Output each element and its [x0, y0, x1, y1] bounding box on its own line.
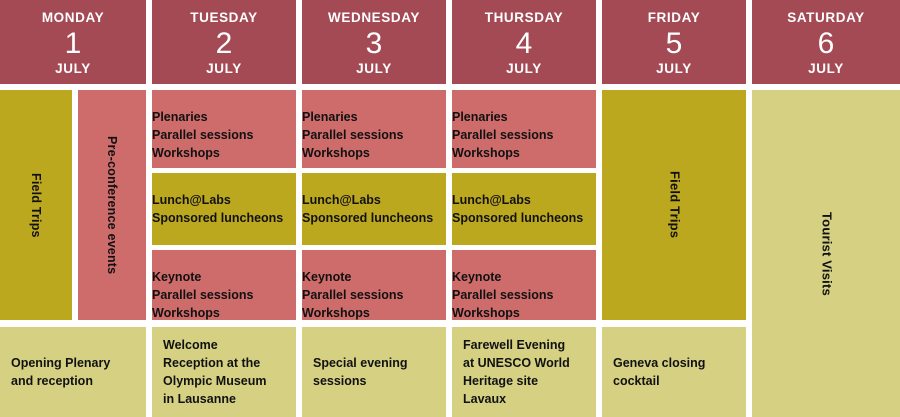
day-header-month: JULY	[506, 62, 542, 76]
event-line: sessions	[313, 372, 407, 390]
event-block-tuesday-evening[interactable]: Welcome Reception at the Olympic Museum …	[152, 327, 296, 417]
day-header-thursday[interactable]: THURSDAY 4 JULY	[452, 0, 596, 84]
event-line: Plenaries	[302, 108, 446, 126]
event-block-tourist-visits-saturday[interactable]: Tourist Visits	[752, 90, 900, 417]
event-line: Parallel sessions	[302, 286, 446, 304]
event-line: Parallel sessions	[152, 286, 296, 304]
event-block-wednesday-evening[interactable]: Special evening sessions	[302, 327, 446, 417]
event-line: Parallel sessions	[302, 126, 446, 144]
event-block-tuesday-afternoon[interactable]: Keynote Parallel sessions Workshops	[152, 250, 296, 320]
day-header-weekday: SATURDAY	[787, 11, 865, 25]
event-line: at UNESCO World	[463, 354, 570, 372]
event-block-monday-evening[interactable]: Opening Plenary and reception	[0, 327, 146, 417]
event-block-thursday-afternoon[interactable]: Keynote Parallel sessions Workshops	[452, 250, 596, 320]
event-line: Farewell Evening	[463, 336, 570, 354]
conference-schedule-calendar: MONDAY 1 JULY TUESDAY 2 JULY WEDNESDAY 3…	[0, 0, 900, 417]
day-header-month: JULY	[356, 62, 392, 76]
event-line: Sponsored luncheons	[152, 209, 296, 227]
event-block-field-trips-monday[interactable]: Field Trips	[0, 90, 72, 320]
event-block-label: Field Trips	[27, 173, 45, 238]
day-header-wednesday[interactable]: WEDNESDAY 3 JULY	[302, 0, 446, 84]
event-block-pre-conference-events[interactable]: Pre-conference events	[78, 90, 146, 320]
event-line: Parallel sessions	[452, 126, 596, 144]
event-block-label: Pre-conference events	[103, 136, 121, 274]
event-line: Workshops	[452, 304, 596, 320]
event-line: in Lausanne	[163, 390, 267, 408]
day-header-month: JULY	[656, 62, 692, 76]
event-line: Sponsored luncheons	[452, 209, 596, 227]
event-line: Keynote	[452, 268, 596, 286]
event-block-text: Welcome Reception at the Olympic Museum …	[152, 336, 267, 409]
event-line: Heritage site	[463, 372, 570, 390]
event-block-label: Field Trips	[665, 171, 684, 238]
event-block-text: Keynote Parallel sessions Workshops	[152, 250, 296, 320]
event-block-label: Tourist Visits	[817, 212, 836, 296]
event-block-text: Plenaries Parallel sessions Workshops	[302, 90, 446, 163]
event-line: Welcome	[163, 336, 267, 354]
day-header-month: JULY	[55, 62, 91, 76]
event-line: Parallel sessions	[152, 126, 296, 144]
event-block-text: Special evening sessions	[302, 354, 407, 390]
event-line: Special evening	[313, 354, 407, 372]
day-header-weekday: THURSDAY	[485, 11, 564, 25]
event-block-wednesday-afternoon[interactable]: Keynote Parallel sessions Workshops	[302, 250, 446, 320]
event-block-field-trips-friday[interactable]: Field Trips	[602, 90, 746, 320]
event-line: Keynote	[152, 268, 296, 286]
day-header-weekday: TUESDAY	[190, 11, 257, 25]
event-line: Keynote	[302, 268, 446, 286]
event-line: Lunch@Labs	[452, 191, 596, 209]
day-header-weekday: WEDNESDAY	[328, 11, 420, 25]
event-block-friday-evening[interactable]: Geneva closing cocktail	[602, 327, 746, 417]
event-block-text: Keynote Parallel sessions Workshops	[452, 250, 596, 320]
event-block-tuesday-lunch[interactable]: Lunch@Labs Sponsored luncheons	[152, 173, 296, 245]
event-line: Plenaries	[452, 108, 596, 126]
event-line: Lunch@Labs	[152, 191, 296, 209]
event-block-text: Lunch@Labs Sponsored luncheons	[302, 173, 446, 227]
event-line: Workshops	[152, 304, 296, 320]
day-header-date: 4	[516, 29, 533, 59]
event-block-text: Farewell Evening at UNESCO World Heritag…	[452, 336, 570, 409]
event-block-text: Lunch@Labs Sponsored luncheons	[452, 173, 596, 227]
event-line: and reception	[11, 372, 110, 390]
event-line: Plenaries	[152, 108, 296, 126]
event-block-text: Keynote Parallel sessions Workshops	[302, 250, 446, 320]
day-header-month: JULY	[808, 62, 844, 76]
day-header-date: 5	[666, 29, 683, 59]
day-header-friday[interactable]: FRIDAY 5 JULY	[602, 0, 746, 84]
event-line: Sponsored luncheons	[302, 209, 446, 227]
event-line: Workshops	[302, 304, 446, 320]
event-line: Lavaux	[463, 390, 570, 408]
event-line: Opening Plenary	[11, 354, 110, 372]
day-header-date: 3	[366, 29, 383, 59]
day-header-date: 1	[65, 29, 82, 59]
event-line: Parallel sessions	[452, 286, 596, 304]
event-block-thursday-morning[interactable]: Plenaries Parallel sessions Workshops	[452, 90, 596, 168]
event-block-tuesday-morning[interactable]: Plenaries Parallel sessions Workshops	[152, 90, 296, 168]
event-line: Workshops	[302, 144, 446, 162]
event-block-text: Lunch@Labs Sponsored luncheons	[152, 173, 296, 227]
day-header-saturday[interactable]: SATURDAY 6 JULY	[752, 0, 900, 84]
day-header-tuesday[interactable]: TUESDAY 2 JULY	[152, 0, 296, 84]
event-line: Workshops	[152, 144, 296, 162]
day-header-weekday: MONDAY	[42, 11, 104, 25]
event-block-text: Geneva closing cocktail	[602, 354, 705, 390]
event-block-thursday-evening[interactable]: Farewell Evening at UNESCO World Heritag…	[452, 327, 596, 417]
event-block-wednesday-morning[interactable]: Plenaries Parallel sessions Workshops	[302, 90, 446, 168]
day-header-monday[interactable]: MONDAY 1 JULY	[0, 0, 146, 84]
event-line: Olympic Museum	[163, 372, 267, 390]
day-header-weekday: FRIDAY	[648, 11, 701, 25]
event-line: Lunch@Labs	[302, 191, 446, 209]
day-header-month: JULY	[206, 62, 242, 76]
day-header-date: 6	[818, 29, 835, 59]
event-line: Geneva closing	[613, 354, 705, 372]
event-line: Reception at the	[163, 354, 267, 372]
event-block-thursday-lunch[interactable]: Lunch@Labs Sponsored luncheons	[452, 173, 596, 245]
day-header-date: 2	[216, 29, 233, 59]
event-block-wednesday-lunch[interactable]: Lunch@Labs Sponsored luncheons	[302, 173, 446, 245]
event-block-text: Plenaries Parallel sessions Workshops	[452, 90, 596, 163]
event-line: cocktail	[613, 372, 705, 390]
event-line: Workshops	[452, 144, 596, 162]
event-block-text: Plenaries Parallel sessions Workshops	[152, 90, 296, 163]
event-block-text: Opening Plenary and reception	[0, 354, 110, 390]
